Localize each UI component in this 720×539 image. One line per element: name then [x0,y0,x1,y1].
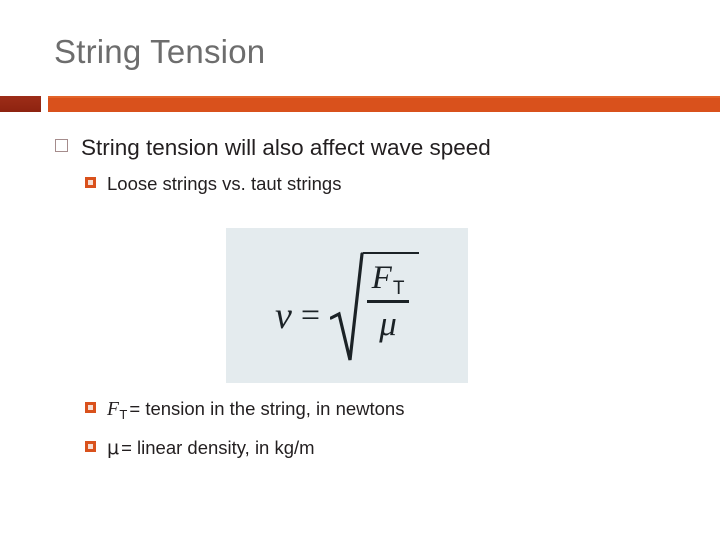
hollow-square-bullet-icon [55,139,68,152]
square-root-icon [330,252,364,364]
divider-accent-block [0,96,41,112]
formula-panel: v = FT μ [226,228,468,383]
list-item-label: Loose strings vs. taut strings [107,173,341,195]
definition-text: = tension in the string, in newtons [129,398,404,420]
numerator-subscript: T [393,279,405,298]
slide-canvas: String Tension String tension will also … [0,0,720,539]
list-item-label: String tension will also affect wave spe… [81,135,491,161]
filled-square-bullet-icon [85,402,96,413]
square-root-group: FT μ [330,252,419,364]
definition-symbol-subscript: T [119,407,127,422]
fraction-numerator: FT [372,261,405,296]
title-divider-bar [0,95,720,112]
page-title: String Tension [54,33,265,71]
definition-symbol: μ [107,437,119,459]
filled-square-bullet-icon [85,177,96,188]
divider-orange-bar [48,96,720,112]
list-item: Loose strings vs. taut strings [85,173,341,195]
wave-speed-equation: v = FT μ [226,228,468,383]
divider-gap [41,95,48,112]
fraction-denominator: μ [379,306,397,343]
definition-symbol-base: F [107,399,119,420]
equation-equals-sign: = [301,299,320,333]
list-item: FT = tension in the string, in newtons [85,398,404,421]
equation-variable: v [275,297,292,335]
fraction-bar [367,300,409,302]
definition-text: = linear density, in kg/m [121,437,314,459]
definition-symbol: FT [107,399,127,421]
divider-highlight-line [48,96,720,98]
numerator-symbol: F [372,261,392,296]
filled-square-bullet-icon [85,441,96,452]
list-item: μ = linear density, in kg/m [85,437,315,459]
radicand-fraction: FT μ [363,252,419,364]
list-item: String tension will also affect wave spe… [55,135,491,161]
